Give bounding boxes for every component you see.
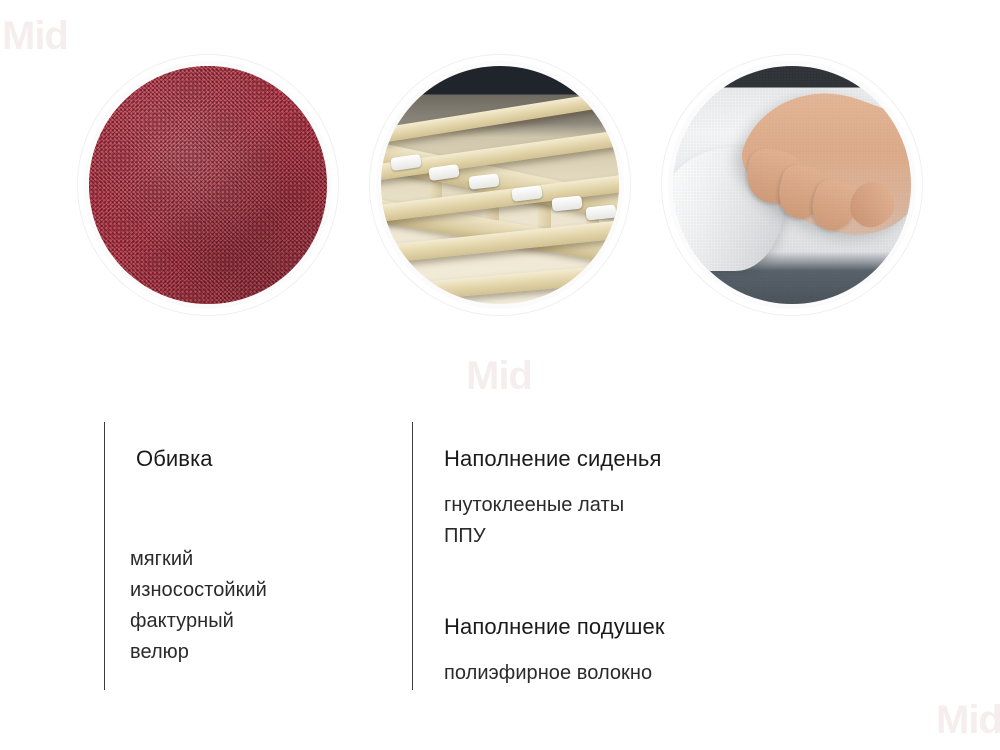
feature-image-fabric-swatch <box>78 55 338 315</box>
feature-image-row <box>0 0 1000 360</box>
thumb <box>842 174 904 236</box>
watermark-logo-center: Mid <box>466 356 532 396</box>
spec-text-seat-filling: гнутоклееные латы ППУ <box>444 490 665 552</box>
spec-column-right-body: Наполнение сиденья гнутоклееные латы ППУ… <box>444 408 665 689</box>
circle-mask-slats <box>376 61 624 309</box>
column-divider-left <box>104 422 105 690</box>
finger <box>805 174 865 237</box>
foam-fold <box>673 147 785 271</box>
feature-image-foam-filling <box>662 55 922 315</box>
spec-heading-upholstery: Обивка <box>136 446 267 472</box>
column-divider-right <box>412 422 413 690</box>
spec-text-cushion-filling: полиэфирное волокно <box>444 658 665 689</box>
spec-column-upholstery: Обивка мягкий износостойкий фактурный ве… <box>104 408 404 698</box>
spec-text-upholstery: мягкий износостойкий фактурный велюр <box>130 544 267 668</box>
circle-mask-foam <box>668 61 916 309</box>
spec-column-left-body: Обивка мягкий износостойкий фактурный ве… <box>130 408 267 668</box>
spec-heading-cushion-filling: Наполнение подушек <box>444 614 665 640</box>
red-velour-texture <box>84 61 332 309</box>
finger <box>741 143 807 208</box>
hand-pressing <box>727 68 911 255</box>
spec-heading-seat-filling: Наполнение сиденья <box>444 446 665 472</box>
wooden-slat <box>381 257 619 304</box>
feature-image-slat-frame <box>370 55 630 315</box>
product-feature-panel: Mid Mid Mid <box>0 0 1000 750</box>
circle-mask-fabric <box>84 61 332 309</box>
spec-column-filling: Наполнение сиденья гнутоклееные латы ППУ… <box>412 408 832 698</box>
specifications-section: Обивка мягкий износостойкий фактурный ве… <box>0 408 1000 708</box>
wooden-slat-frame <box>381 66 619 304</box>
finger <box>772 160 833 225</box>
white-foam-sheet <box>673 66 911 304</box>
